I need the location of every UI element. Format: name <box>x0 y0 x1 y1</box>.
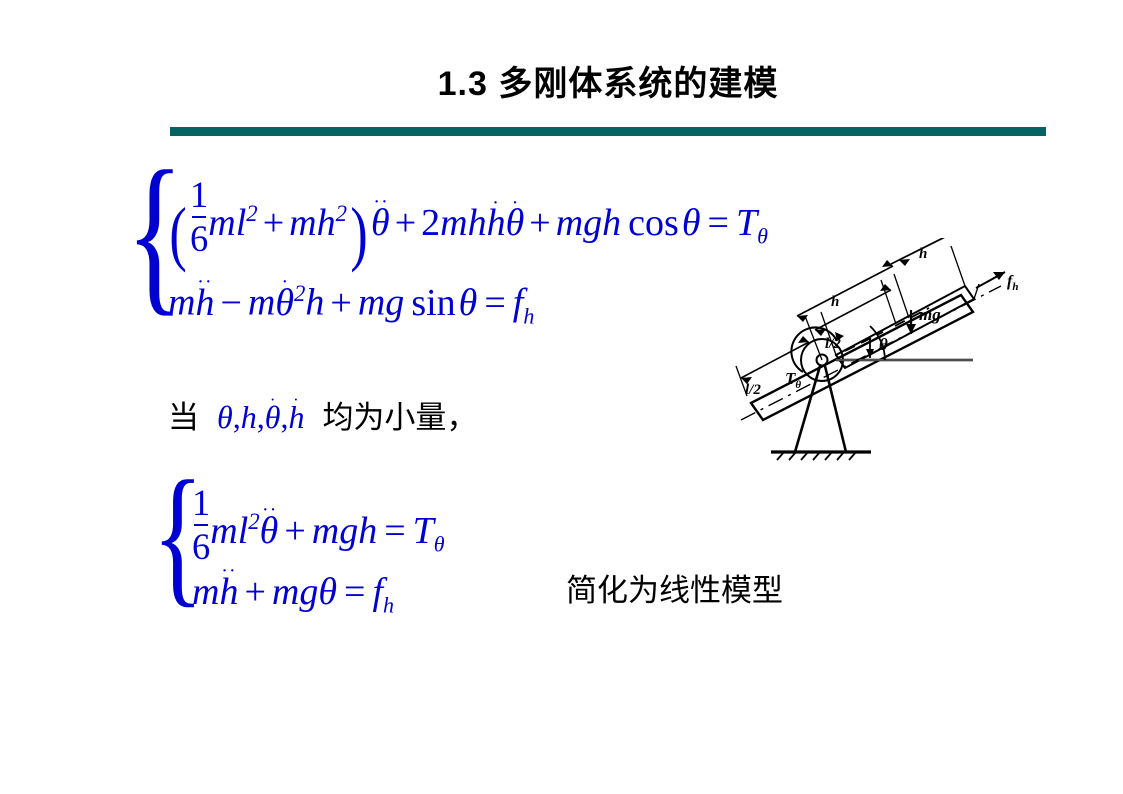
label-weight-mg: mg <box>919 305 941 324</box>
function-sin: sin <box>404 282 455 324</box>
label-offset-right: h <box>919 246 927 262</box>
symbol-f: f <box>372 571 383 613</box>
dimension-extension-lines <box>736 246 979 396</box>
symbol-m: m <box>289 202 316 244</box>
h-double-dot: h·· <box>195 284 214 322</box>
exponent-two: 2 <box>246 201 257 226</box>
dimension-offset-right <box>899 238 959 266</box>
fraction-denominator: 6 <box>192 528 210 566</box>
symbol-m: m <box>192 571 219 613</box>
condition-suffix: 均为小量， <box>322 400 477 435</box>
paren-open: ( <box>169 197 186 269</box>
operator-plus: + <box>258 202 289 244</box>
comma: , <box>233 399 241 435</box>
theta-dot: θ· <box>265 401 281 433</box>
symbol-T: T <box>413 510 434 552</box>
label-half-length-left: l/2 <box>745 382 761 398</box>
term-mg: mg <box>358 282 404 324</box>
page-title-block: 1.3 多刚体系统的建模 <box>170 66 1046 103</box>
theta-dot: θ· <box>275 284 294 322</box>
condition-symbol-group: θ,h,θ·,h· <box>217 399 304 435</box>
label-torque: Tθ <box>785 369 801 391</box>
mechanism-diagram: l/2 l/2 h h fh mg Tθ θ <box>733 238 1033 468</box>
equation-2: mh··−mθ·2h+mgsinθ=fh <box>168 283 534 327</box>
label-torque-sub: θ <box>795 379 801 391</box>
symbol-l: l <box>238 510 249 552</box>
operator-plus: + <box>324 282 357 324</box>
double-dot-accent: ·· <box>373 193 389 213</box>
symbol-theta: θ <box>679 202 701 244</box>
dot-accent: · <box>492 194 500 214</box>
h-dot: h· <box>288 401 304 433</box>
symbol-h: h <box>305 282 324 324</box>
operator-equals: = <box>337 571 372 613</box>
operator-equals: = <box>477 282 512 324</box>
symbol-m: m <box>168 282 195 324</box>
dimension-offset-left <box>797 260 893 322</box>
dot-accent: · <box>270 392 277 409</box>
symbol-f: f <box>513 282 524 324</box>
operator-plus: + <box>390 202 421 244</box>
equation-4: mh··+mgθ=fh <box>192 573 394 617</box>
dot-accent: · <box>512 194 520 214</box>
operator-minus: − <box>214 282 247 324</box>
operator-equals: = <box>701 202 736 244</box>
symbol-h: h <box>317 202 336 244</box>
label-force-fh-sub: h <box>1012 281 1018 293</box>
comma: , <box>280 399 288 435</box>
linearization-note: 简化为线性模型 <box>566 574 783 608</box>
symbol-theta: θ <box>217 399 233 435</box>
exponent-two: 2 <box>248 509 259 534</box>
comma: , <box>257 399 265 435</box>
label-half-length-right: l/2 <box>825 336 841 352</box>
fraction-numerator: 1 <box>192 484 210 522</box>
title-divider <box>170 127 1046 136</box>
fraction-one-sixth: 16 <box>190 176 208 259</box>
term-mgh: mgh <box>312 510 377 552</box>
symbol-h: h <box>468 202 487 244</box>
slide-canvas: 1.3 多刚体系统的建模 { (16ml2+mh2)θ··+2mhh·θ·+mg… <box>0 0 1123 794</box>
dot-accent: · <box>293 392 300 409</box>
operator-plus: + <box>524 202 555 244</box>
subscript-theta: θ <box>434 531 445 556</box>
page-title: 1.3 多刚体系统的建模 <box>170 66 1046 103</box>
label-offset-left: h <box>831 294 839 310</box>
symbol-l: l <box>236 202 247 244</box>
symbol-m: m <box>210 510 237 552</box>
double-dot-accent: ·· <box>221 562 237 582</box>
operator-plus: + <box>238 571 271 613</box>
term-mgh: mgh <box>556 202 621 244</box>
fraction-denominator: 6 <box>190 220 208 258</box>
fraction-numerator: 1 <box>190 176 208 214</box>
function-cos: cos <box>621 202 679 244</box>
double-dot-accent: ·· <box>262 501 278 521</box>
condition-line: 当 θ,h,θ·,h· 均为小量， <box>168 400 477 435</box>
condition-prefix: 当 <box>168 400 199 435</box>
operator-plus: + <box>278 510 311 552</box>
theta-double-dot: θ·· <box>260 512 279 550</box>
symbol-m: m <box>440 202 467 244</box>
exponent-two: 2 <box>294 281 305 306</box>
theta-double-dot: θ·· <box>371 204 390 242</box>
condition-symbols: θ,h,θ·,h· <box>199 399 322 435</box>
dot-accent: · <box>282 273 290 293</box>
subscript-h: h <box>383 593 394 618</box>
equation-3: 16ml2θ··+mgh=Tθ <box>192 484 445 567</box>
symbol-m: m <box>248 282 275 324</box>
fraction-one-sixth: 16 <box>192 484 210 567</box>
label-angle-theta: θ <box>879 335 888 354</box>
label-force-fh: fh <box>1007 273 1018 293</box>
coefficient-two: 2 <box>421 202 440 244</box>
term-mg: mg <box>272 571 318 613</box>
symbol-m: m <box>208 202 235 244</box>
double-dot-accent: ·· <box>197 273 213 293</box>
equation-1: (16ml2+mh2)θ··+2mhh·θ·+mghcosθ=Tθ <box>166 176 768 269</box>
exponent-two: 2 <box>336 201 347 226</box>
symbol-h: h <box>241 399 257 435</box>
symbol-theta: θ <box>318 571 337 613</box>
paren-close: ) <box>350 197 367 269</box>
theta-dot: θ· <box>506 204 525 242</box>
subscript-h: h <box>523 303 534 328</box>
dimension-half-length-left <box>741 336 809 384</box>
h-dot: h· <box>487 204 506 242</box>
h-double-dot: h·· <box>219 573 238 611</box>
symbol-theta: θ <box>456 282 478 324</box>
operator-equals: = <box>377 510 412 552</box>
